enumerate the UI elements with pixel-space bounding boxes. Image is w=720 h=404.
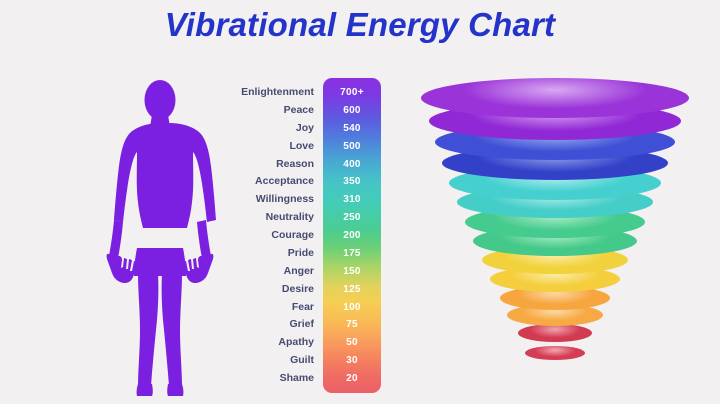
scale-level-value: 100 — [323, 299, 381, 316]
funnel-disc — [525, 346, 585, 360]
scale-level-value: 540 — [323, 120, 381, 137]
human-silhouette-icon — [99, 76, 221, 398]
scale-level-label: Neutrality — [218, 209, 316, 226]
scale-level-value: 175 — [323, 245, 381, 262]
scale-level-value: 310 — [323, 191, 381, 208]
scale-level-label: Desire — [218, 281, 316, 298]
scale-level-value: 50 — [323, 334, 381, 351]
page-title: Vibrational Energy Chart — [0, 6, 720, 44]
scale-level-value: 150 — [323, 263, 381, 280]
human-silhouette-figure — [99, 76, 221, 398]
scale-level-label: Willingness — [218, 191, 316, 208]
scale-level-value: 700+ — [323, 84, 381, 101]
scale-level-value: 600 — [323, 102, 381, 119]
scale-level-value: 75 — [323, 316, 381, 333]
scale-level-value: 250 — [323, 209, 381, 226]
scale-level-label: Enlightenment — [218, 84, 316, 101]
scale-level-label: Grief — [218, 316, 316, 333]
gradient-scale-bar: 700+600540500400350310250200175150125100… — [323, 78, 381, 393]
scale-level-value: 400 — [323, 156, 381, 173]
scale-level-value: 20 — [323, 370, 381, 387]
scale-level-label: Joy — [218, 120, 316, 137]
vibration-funnel-graphic — [402, 76, 708, 398]
scale-level-value: 125 — [323, 281, 381, 298]
scale-level-value: 350 — [323, 173, 381, 190]
vibration-scale: EnlightenmentPeaceJoyLoveReasonAcceptanc… — [218, 78, 384, 394]
scale-level-label: Guilt — [218, 352, 316, 369]
funnel-disc — [421, 78, 689, 118]
level-label-column: EnlightenmentPeaceJoyLoveReasonAcceptanc… — [218, 78, 316, 394]
scale-level-label: Peace — [218, 102, 316, 119]
scale-level-label: Reason — [218, 156, 316, 173]
scale-level-value: 30 — [323, 352, 381, 369]
level-value-column: 700+600540500400350310250200175150125100… — [323, 78, 381, 393]
scale-level-label: Acceptance — [218, 173, 316, 190]
scale-level-label: Pride — [218, 245, 316, 262]
funnel-disc — [518, 324, 592, 342]
scale-level-label: Courage — [218, 227, 316, 244]
scale-level-label: Apathy — [218, 334, 316, 351]
scale-level-label: Love — [218, 138, 316, 155]
scale-level-value: 500 — [323, 138, 381, 155]
scale-level-label: Fear — [218, 299, 316, 316]
scale-level-label: Shame — [218, 370, 316, 387]
scale-level-label: Anger — [218, 263, 316, 280]
scale-level-value: 200 — [323, 227, 381, 244]
